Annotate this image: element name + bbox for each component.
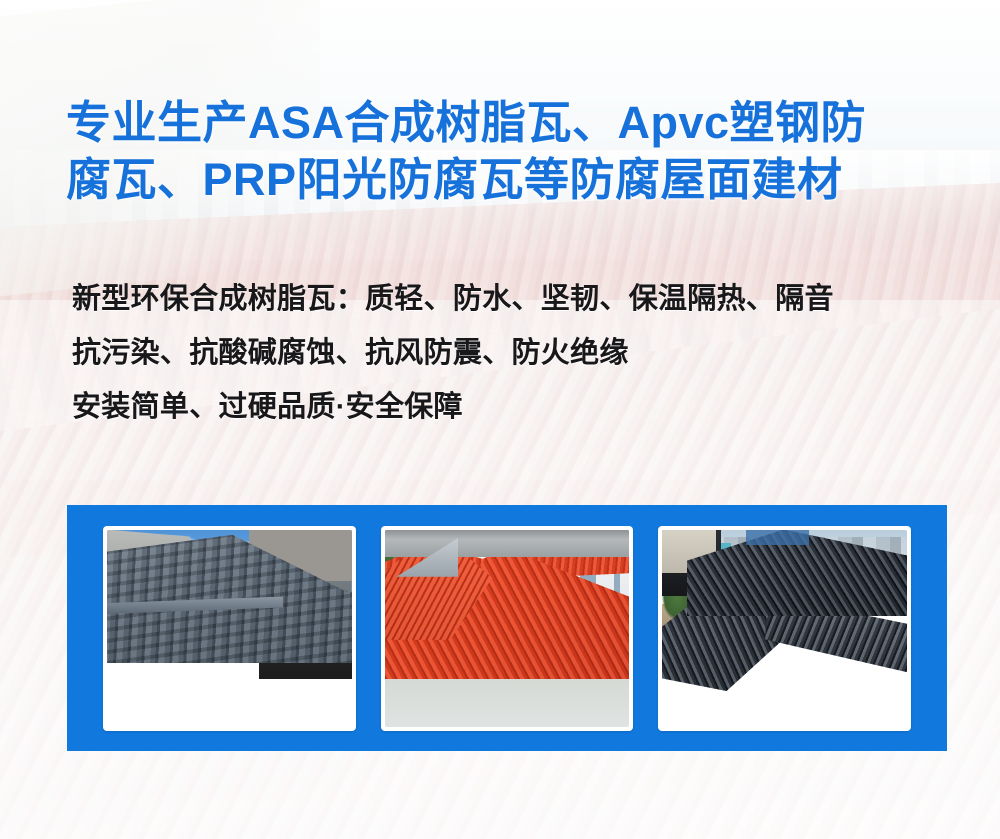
banner-subheadline: 新型环保合成树脂瓦：质轻、防水、坚韧、保温隔热、隔音 抗污染、抗酸碱腐蚀、抗风防… <box>72 272 962 434</box>
photo3-blue-accent <box>746 530 810 546</box>
grey-resin-tile-roof-photo <box>103 526 356 731</box>
photo2-eave <box>385 530 630 558</box>
banner-headline: 专业生产ASA合成树脂瓦、Apvc塑钢防 腐瓦、PRP阳光防腐瓦等防腐屋面建材 <box>66 94 946 208</box>
banner-content: 专业生产ASA合成树脂瓦、Apvc塑钢防 腐瓦、PRP阳光防腐瓦等防腐屋面建材 … <box>0 0 1000 839</box>
dark-resin-tile-roof-photo <box>658 526 911 731</box>
product-photo-gallery <box>67 505 947 751</box>
red-resin-tile-roof-photo <box>381 526 634 731</box>
product-banner: 专业生产ASA合成树脂瓦、Apvc塑钢防 腐瓦、PRP阳光防腐瓦等防腐屋面建材 … <box>0 0 1000 839</box>
